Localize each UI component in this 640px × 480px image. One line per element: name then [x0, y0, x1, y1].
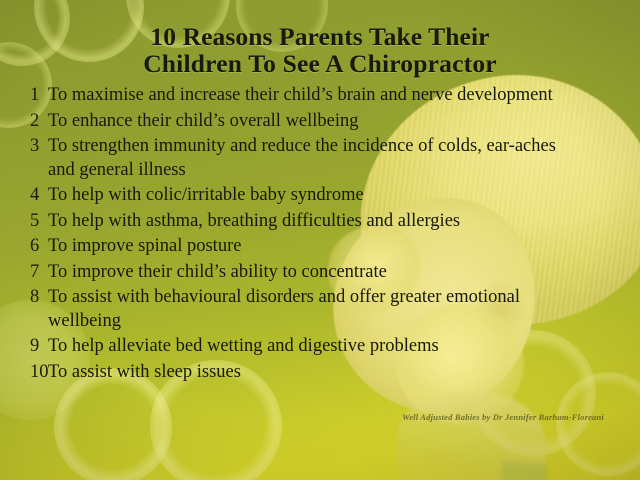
list-item: 10 To assist with sleep issues	[0, 361, 640, 385]
list-item: 2 To enhance their child’s overall wellb…	[0, 110, 640, 134]
list-item: 4 To help with colic/irritable baby synd…	[0, 184, 640, 208]
list-item-number: 3	[0, 135, 48, 159]
list-item: 5 To help with asthma, breathing difficu…	[0, 210, 640, 234]
list-item-text: To assist with behavioural disorders and…	[48, 286, 588, 333]
list-item-number: 10	[0, 361, 48, 385]
list-item-number: 7	[0, 261, 48, 285]
list-item-number: 9	[0, 335, 48, 359]
reasons-list: 1 To maximise and increase their child’s…	[0, 84, 640, 386]
list-item-text: To improve their child’s ability to conc…	[48, 261, 588, 285]
list-item-text: To help with asthma, breathing difficult…	[48, 210, 588, 234]
list-item: 7 To improve their child’s ability to co…	[0, 261, 640, 285]
page-title: 10 Reasons Parents Take Their Children T…	[0, 24, 640, 77]
list-item-number: 4	[0, 184, 48, 208]
list-item-number: 2	[0, 110, 48, 134]
poster-content: 10 Reasons Parents Take Their Children T…	[0, 0, 640, 480]
list-item-text: To help alleviate bed wetting and digest…	[48, 335, 588, 359]
list-item-text: To help with colic/irritable baby syndro…	[48, 184, 588, 208]
poster: 10 Reasons Parents Take Their Children T…	[0, 0, 640, 480]
list-item-number: 1	[0, 84, 48, 108]
list-item: 1 To maximise and increase their child’s…	[0, 84, 640, 108]
title-line-1: 10 Reasons Parents Take Their	[0, 24, 640, 51]
list-item-number: 8	[0, 286, 48, 310]
list-item: 8 To assist with behavioural disorders a…	[0, 286, 640, 333]
list-item-text: To assist with sleep issues	[48, 361, 588, 385]
list-item-number: 6	[0, 235, 48, 259]
list-item-text: To strengthen immunity and reduce the in…	[48, 135, 588, 182]
title-line-2: Children To See A Chiropractor	[0, 51, 640, 78]
attribution-credit: Well Adjusted Babies by Dr Jennifer Barh…	[402, 412, 604, 422]
list-item: 9 To help alleviate bed wetting and dige…	[0, 335, 640, 359]
list-item-text: To improve spinal posture	[48, 235, 588, 259]
list-item-text: To maximise and increase their child’s b…	[48, 84, 588, 108]
list-item-text: To enhance their child’s overall wellbei…	[48, 110, 588, 134]
list-item: 6 To improve spinal posture	[0, 235, 640, 259]
list-item-number: 5	[0, 210, 48, 234]
list-item: 3 To strengthen immunity and reduce the …	[0, 135, 640, 182]
